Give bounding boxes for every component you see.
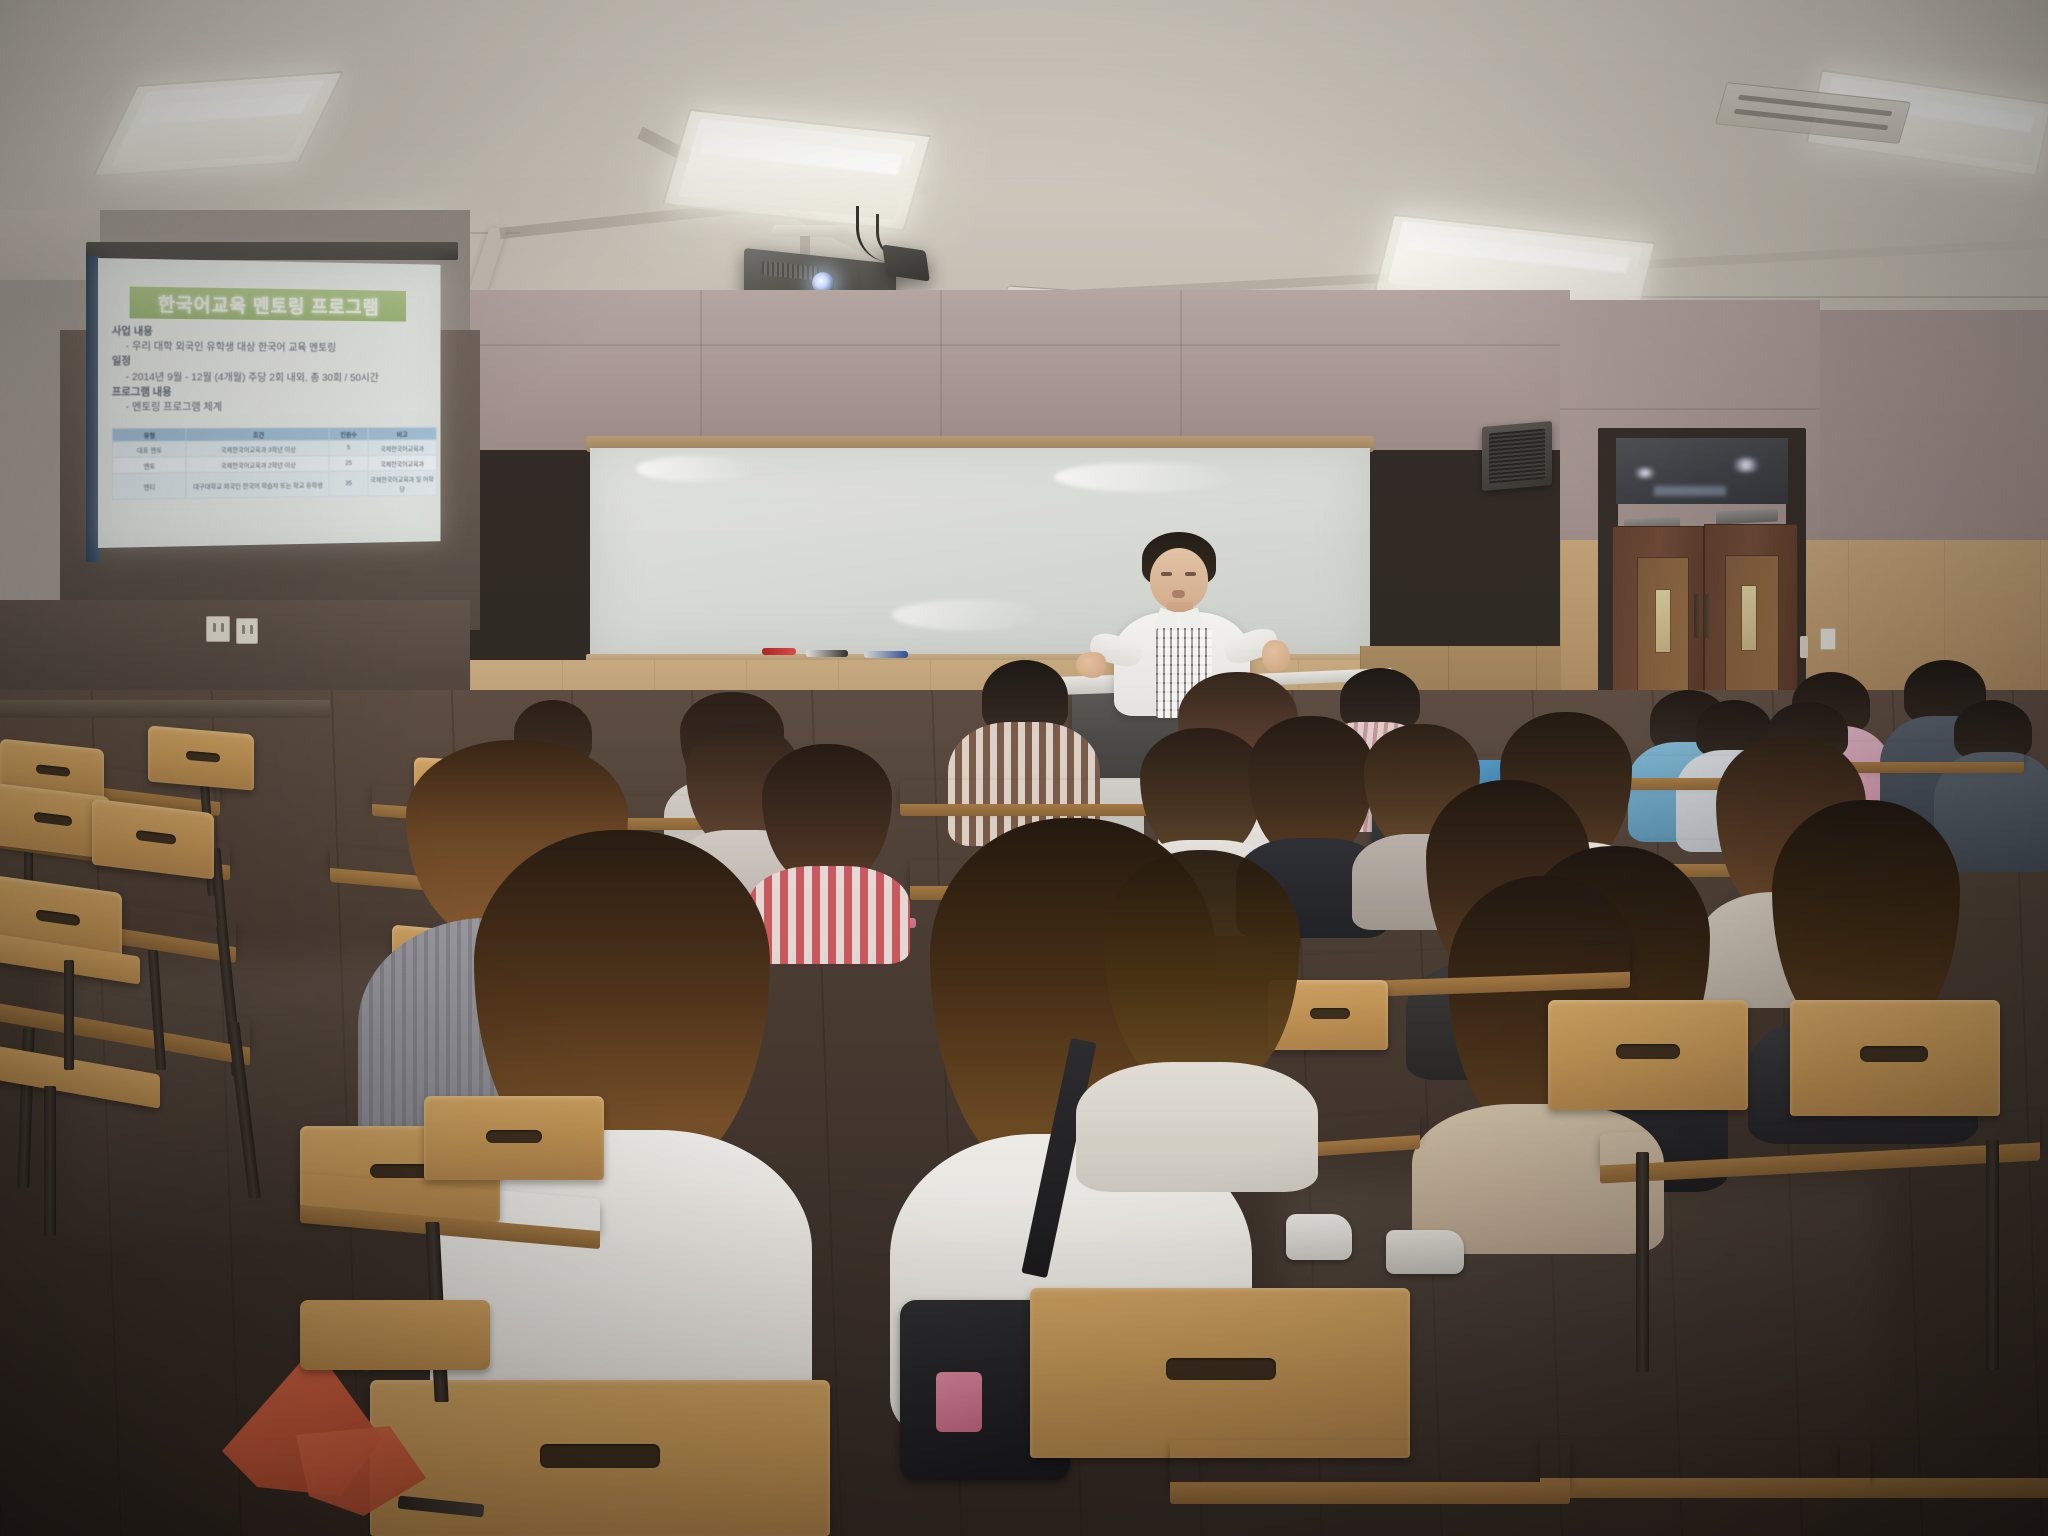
table-header-cell: 조건 (186, 428, 329, 441)
slide-title-band: 한국어교육 멘토링 프로그램 (130, 287, 406, 322)
table-cell: 대구대학교 외국인 한국어 학습자 또는 학교 유학생 (186, 471, 329, 498)
wall-seam (1180, 290, 1182, 450)
desk-foreground-right-2 (1540, 1440, 1870, 1480)
desk-leg (1636, 1152, 1649, 1372)
transom-reflection (1654, 486, 1726, 496)
projector-mount (770, 225, 850, 237)
whiteboard-glare (1054, 462, 1240, 492)
chair-foreground-center (1030, 1288, 1410, 1458)
left-wall-strip (0, 210, 100, 280)
back-wall-upper (470, 290, 1570, 450)
table-cell: 멘티 (112, 473, 186, 500)
table-header-cell: 비고 (368, 427, 437, 440)
chair-leg (44, 1086, 56, 1236)
classroom-photo: 한국어교육 멘토링 프로그램 사업 내용 - 우리 대학 외국인 유학생 대상 … (0, 0, 2048, 1536)
screen-case (86, 242, 458, 260)
black-marker (806, 650, 848, 657)
presenter-eye (1185, 572, 1196, 576)
student-hair (1104, 850, 1300, 1086)
wall-seam (1560, 408, 1820, 410)
door-left[interactable] (1612, 526, 1704, 702)
slide-body: 사업 내용 - 우리 대학 외국인 유학생 대상 한국어 교육 멘토링 일정 -… (112, 324, 424, 415)
wall-seam (700, 290, 702, 450)
wall-seam (940, 290, 942, 450)
bag-detail (936, 1372, 982, 1432)
presenter-eye (1161, 572, 1172, 576)
table-cell: 국제한국어교육과 (368, 455, 437, 471)
student-shirt (1076, 1062, 1318, 1192)
table-cell: 국제한국어교육과 3학년 이상 (186, 440, 329, 457)
chair-seat-foreground (300, 1300, 490, 1370)
desk-leg (1986, 1140, 1999, 1370)
table-header-cell: 인원수 (330, 428, 368, 441)
stage-lip (0, 700, 330, 718)
table-cell: 국제한국어교육과 2학년 이상 (186, 456, 329, 473)
slide-section-heading: 일정 (112, 355, 424, 372)
table-cell: 5 (330, 440, 368, 456)
chair-mid-left-2 (424, 1096, 604, 1180)
desk-bottom-center (1170, 1440, 1570, 1484)
wall-speaker (1482, 421, 1552, 491)
table-header-cell: 유형 (112, 428, 186, 441)
whiteboard-glare (636, 456, 756, 482)
wall-seam (470, 344, 1570, 346)
white-shoe (1286, 1214, 1352, 1260)
table-row: 멘티 대구대학교 외국인 한국어 학습자 또는 학교 유학생 35 국제한국어교… (112, 470, 436, 499)
slide-section-bullet: - 2014년 9월 - 12월 (4개월) 주당 2회 내외, 총 30회 /… (112, 370, 424, 386)
slide-section-heading: 프로그램 내용 (112, 385, 424, 400)
table-cell: 대표 멘토 (112, 441, 186, 457)
red-marker (762, 648, 796, 655)
slide-table: 유형 조건 인원수 비고 대표 멘토 국제한국어교육과 3학년 이상 5 국제한… (112, 427, 437, 500)
blue-marker (864, 651, 908, 658)
slide-title-text: 한국어교육 멘토링 프로그램 (158, 289, 380, 318)
wall-outlet (206, 616, 230, 642)
empty-chair (148, 725, 254, 790)
transom-light-reflection (1632, 468, 1658, 478)
table-cell: 35 (330, 471, 368, 497)
wall-outlet (236, 618, 258, 644)
door-handle-right[interactable] (1703, 594, 1710, 638)
door-window-left (1655, 589, 1671, 653)
wall-switch[interactable] (1820, 628, 1836, 650)
slide-section-bullet: - 우리 대학 외국인 유학생 대상 한국어 교육 멘토링 (112, 339, 424, 356)
table-cell: 멘토 (112, 457, 186, 474)
student-side-right (1076, 850, 1316, 1180)
chair-right-1 (1548, 1000, 1748, 1110)
door-window-right (1741, 585, 1757, 651)
table-cell: 25 (330, 455, 368, 471)
slide-section-bullet: - 멘토링 프로그램 체계 (112, 400, 424, 415)
chair-leg (64, 960, 74, 1070)
whiteboard-glare (892, 600, 1042, 630)
white-shoe (1386, 1230, 1464, 1274)
transom-light-reflection (1730, 458, 1762, 472)
projection-screen: 한국어교육 멘토링 프로그램 사업 내용 - 우리 대학 외국인 유학생 대상 … (98, 258, 441, 548)
presenter-head (1150, 548, 1208, 610)
table-cell: 국제한국어교육과 (368, 440, 437, 456)
presenter-mouth (1172, 590, 1185, 598)
table-cell: 국제한국어교육과 및 어학당 (368, 470, 437, 496)
umbrella-tip (398, 1496, 485, 1518)
door-handle-left[interactable] (1694, 594, 1701, 638)
presenter-right-hand (1262, 640, 1290, 672)
wall-plate (1800, 636, 1808, 658)
desk-foreground-right (1840, 1440, 2048, 1480)
chair-right-2 (1790, 1000, 2000, 1116)
